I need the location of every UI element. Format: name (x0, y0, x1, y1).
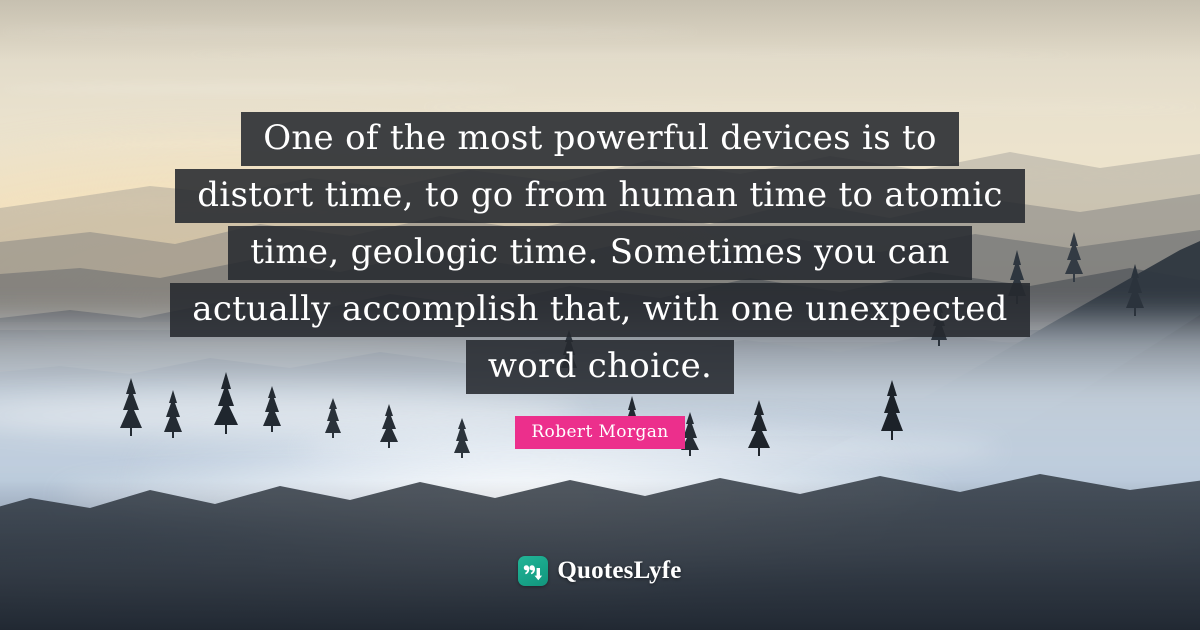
quote-card: One of the most powerful devices is to d… (0, 0, 1200, 630)
quote-line: One of the most powerful devices is to (241, 112, 959, 166)
brand-logo[interactable]: QuotesLyfe (0, 556, 1200, 586)
quote-line: word choice. (466, 340, 734, 394)
quote-text-block: One of the most powerful devices is to d… (0, 112, 1200, 397)
brand-name: QuotesLyfe (557, 557, 681, 585)
quote-line: distort time, to go from human time to a… (175, 169, 1025, 223)
author-attribution: Robert Morgan (0, 416, 1200, 449)
quote-marks-icon (518, 556, 548, 586)
card-content: One of the most powerful devices is to d… (0, 0, 1200, 630)
quote-line: actually accomplish that, with one unexp… (170, 283, 1029, 337)
author-name-badge: Robert Morgan (515, 416, 684, 449)
quote-line: time, geologic time. Sometimes you can (228, 226, 972, 280)
